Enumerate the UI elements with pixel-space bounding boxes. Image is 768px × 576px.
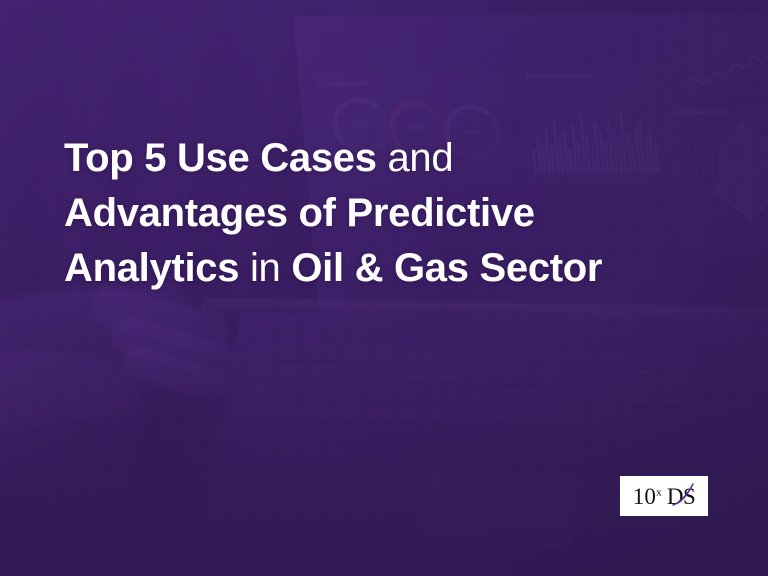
headline-line-1-light: and: [377, 136, 454, 180]
banner-content: Top 5 Use Cases and Advantages of Predic…: [0, 0, 768, 576]
headline-line-3-bold-b: Oil & Gas Sector: [291, 246, 602, 290]
headline-line-3-bold-a: Analytics: [64, 246, 239, 290]
promotional-banner: 81% 59% 46%: [0, 0, 768, 576]
headline-line-2-bold: Advantages of Predictive: [64, 191, 535, 235]
logo-number: 10: [633, 484, 656, 509]
logo-exponent: x: [656, 486, 662, 498]
logo-mark: 10xDS: [633, 485, 696, 508]
brand-logo[interactable]: 10xDS: [620, 476, 708, 516]
headline-line-1: Top 5 Use Cases and: [64, 131, 714, 186]
logo-letters: DS: [667, 484, 695, 509]
headline-line-3-light: in: [239, 246, 291, 290]
headline-line-3: Analytics in Oil & Gas Sector: [64, 241, 714, 296]
page-title: Top 5 Use Cases and Advantages of Predic…: [64, 131, 714, 296]
headline-line-1-bold: Top 5 Use Cases: [64, 136, 377, 180]
headline-line-2: Advantages of Predictive: [64, 186, 714, 241]
